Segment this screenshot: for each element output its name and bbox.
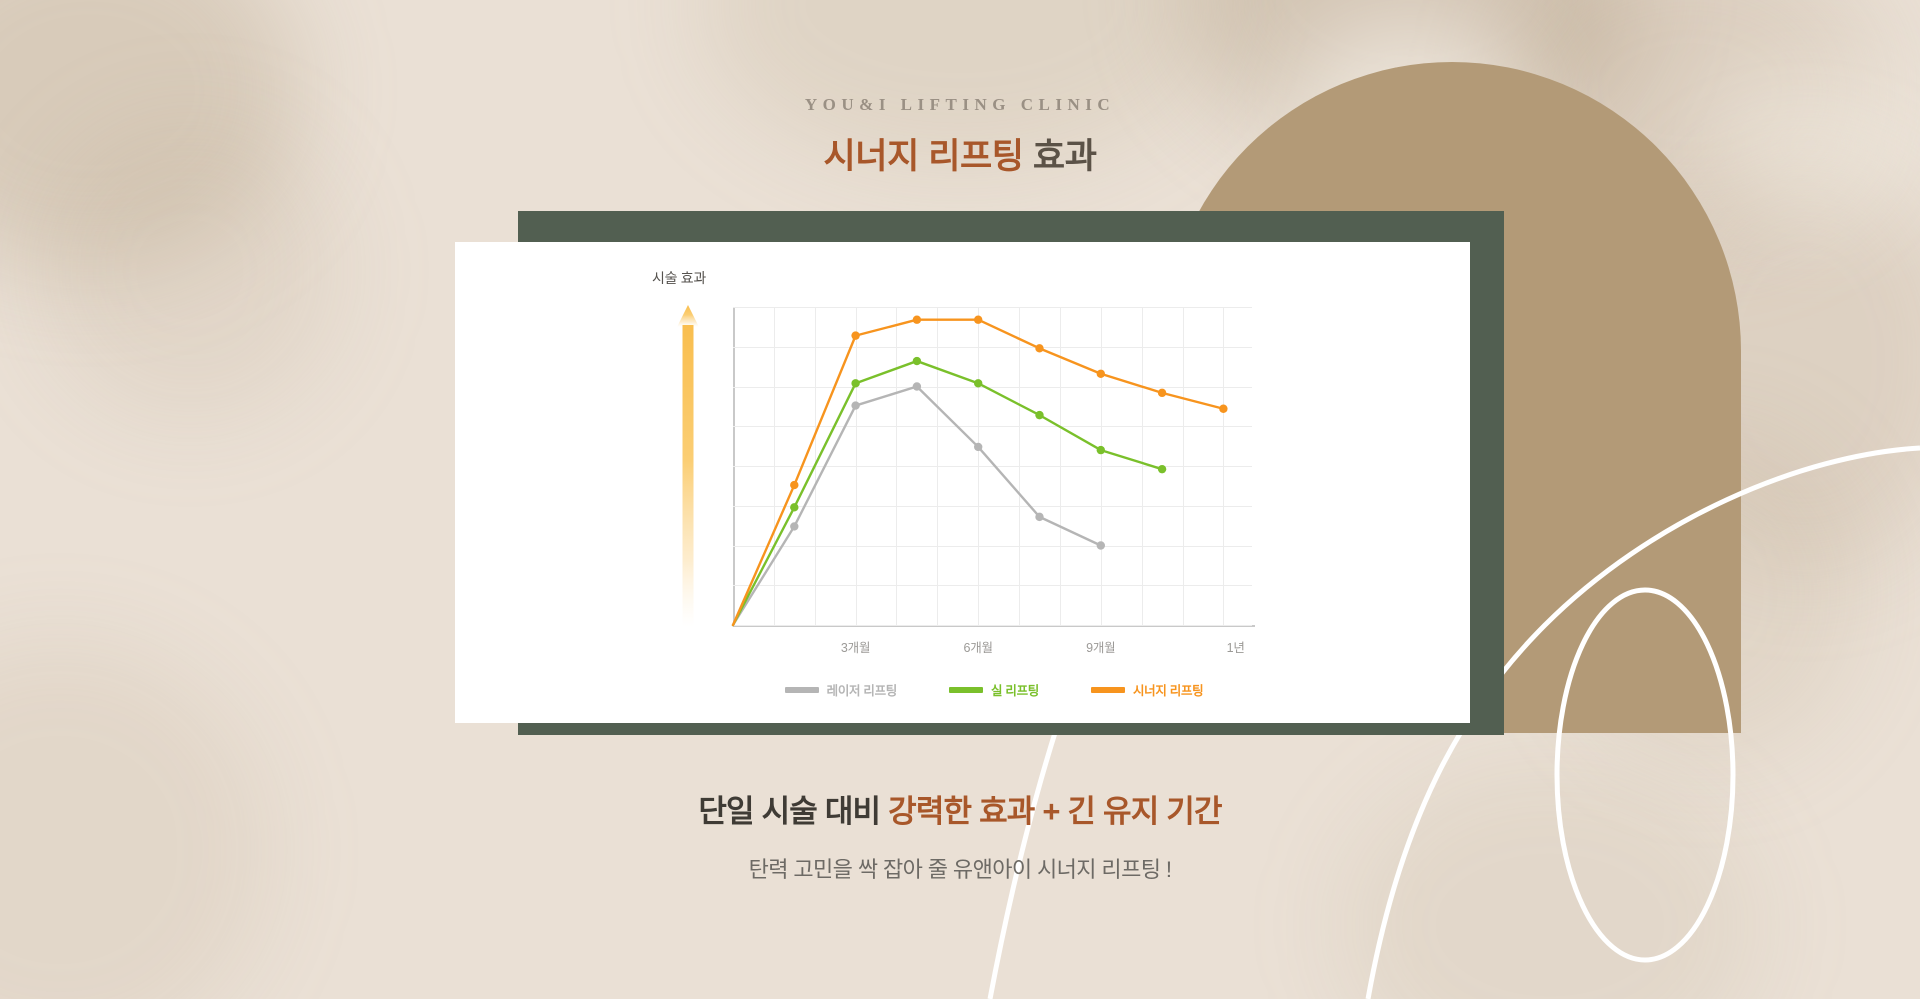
legend-swatch-icon: [1091, 687, 1125, 693]
chart-data-point: [974, 379, 982, 387]
chart-data-point: [790, 522, 798, 530]
chart-data-point: [1158, 389, 1166, 397]
page-title-highlight: 시너지 리프팅: [823, 137, 1023, 176]
legend-label: 실 리프팅: [991, 680, 1039, 699]
chart-data-point: [1097, 446, 1105, 454]
chart-data-point: [1219, 405, 1227, 413]
x-tick-label: 3개월: [841, 637, 870, 656]
chart-data-point: [1158, 465, 1166, 473]
legend-swatch-icon: [949, 687, 983, 693]
chart-data-point: [913, 316, 921, 324]
chart-data-point: [1035, 344, 1043, 352]
footer-kicker-lead: 단일 시술 대비: [698, 794, 888, 829]
chart-data-point: [1035, 513, 1043, 521]
brand-eyebrow: YOU&I LIFTING CLINIC: [0, 95, 1920, 115]
chart-data-point: [974, 316, 982, 324]
upward-arrow-icon: [677, 305, 699, 627]
legend-item[interactable]: 레이저 리프팅: [785, 680, 897, 699]
footer-kicker-highlight: 강력한 효과 + 긴 유지 기간: [888, 794, 1222, 829]
chart-data-point: [1035, 411, 1043, 419]
page-title: 시너지 리프팅 효과: [0, 128, 1920, 179]
chart-line-실 리프팅: [733, 361, 1162, 625]
header: YOU&I LIFTING CLINIC 시너지 리프팅 효과: [0, 0, 1920, 179]
legend-label: 시너지 리프팅: [1133, 680, 1203, 699]
grid-line-horizontal: [733, 625, 1252, 626]
chart-legend: 레이저 리프팅실 리프팅시너지 리프팅: [733, 680, 1255, 699]
x-tick-label: 1년: [1227, 637, 1245, 656]
page-title-tail: 효과: [1024, 137, 1097, 176]
chart-data-point: [974, 443, 982, 451]
y-axis-label: 시술 효과: [652, 268, 706, 288]
chart-data-point: [913, 382, 921, 390]
legend-swatch-icon: [785, 687, 819, 693]
chart-line-시너지 리프팅: [733, 320, 1223, 625]
chart-data-point: [913, 357, 921, 365]
footer-kicker: 단일 시술 대비 강력한 효과 + 긴 유지 기간: [0, 786, 1920, 831]
chart-line-레이저 리프팅: [733, 387, 1101, 626]
x-tick-label: 9개월: [1086, 637, 1115, 656]
footer: 단일 시술 대비 강력한 효과 + 긴 유지 기간 탄력 고민을 싹 잡아 줄 …: [0, 786, 1920, 884]
chart-data-point: [851, 401, 859, 409]
chart-series-layer: [733, 307, 1252, 625]
chart-data-point: [1097, 541, 1105, 549]
legend-item[interactable]: 시너지 리프팅: [1091, 680, 1203, 699]
legend-label: 레이저 리프팅: [827, 680, 897, 699]
chart-data-point: [1097, 370, 1105, 378]
chart-data-point: [851, 379, 859, 387]
footer-subcopy: 탄력 고민을 싹 잡아 줄 유앤아이 시너지 리프팅 !: [0, 852, 1920, 884]
chart-data-point: [790, 503, 798, 511]
x-tick-label: 6개월: [964, 637, 993, 656]
legend-item[interactable]: 실 리프팅: [949, 680, 1039, 699]
chart-data-point: [790, 481, 798, 489]
chart-data-point: [851, 331, 859, 339]
